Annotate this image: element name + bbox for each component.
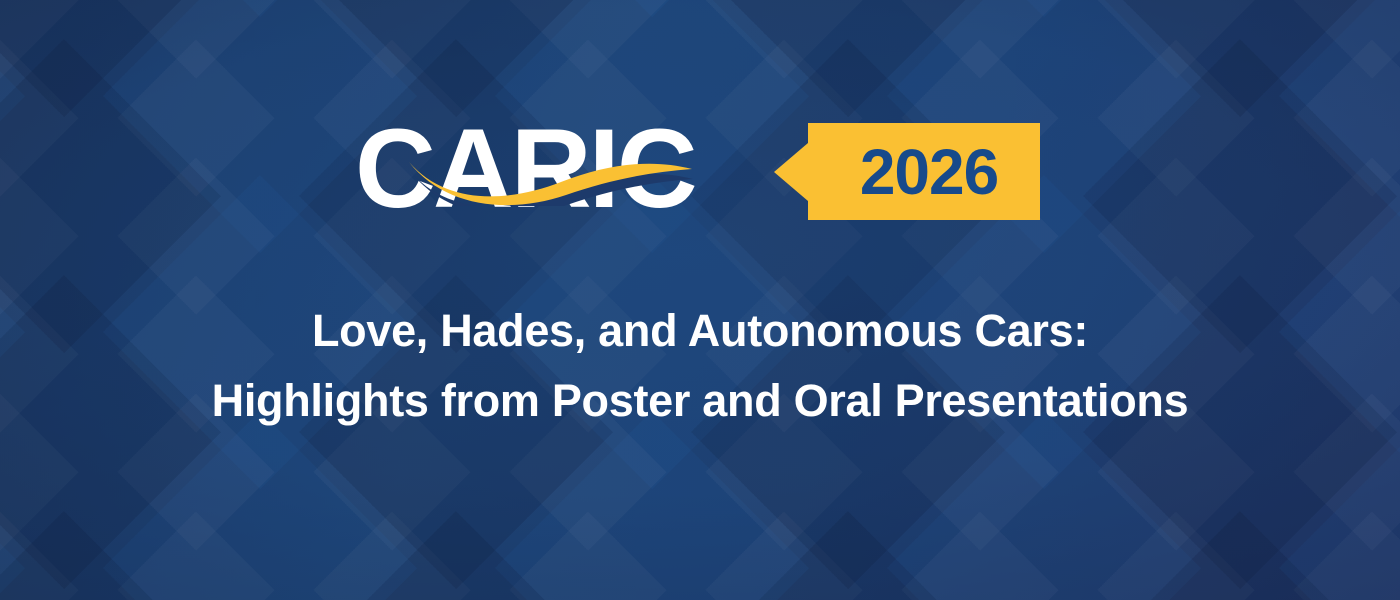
year-badge-label: 2026 [850,140,998,204]
logo-inner: CARIC 2026 [355,104,1045,234]
headline-block: Love, Hades, and Autonomous Cars: Highli… [0,296,1400,436]
year-badge: 2026 [808,123,1040,220]
headline-line-2: Highlights from Poster and Oral Presenta… [0,366,1400,436]
wave-swoosh-icon [407,146,697,206]
badge-arrow-notch-icon [774,143,808,201]
logo-lockup: CARIC 2026 [0,104,1400,234]
headline-line-1: Love, Hades, and Autonomous Cars: [0,296,1400,366]
caric-banner: CARIC 2026 Love, Hades, and Autonomous C… [0,0,1400,600]
